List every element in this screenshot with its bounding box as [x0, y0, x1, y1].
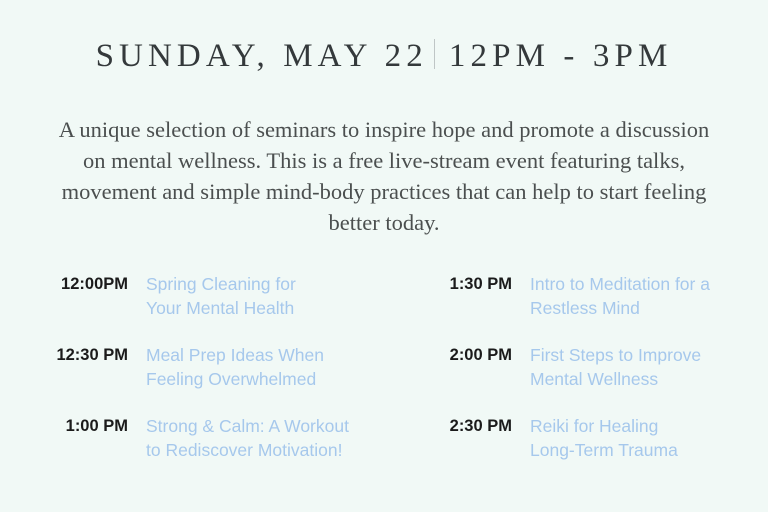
session-title-line1: First Steps to Improve [530, 345, 701, 365]
session-time: 2:30 PM [430, 414, 512, 438]
session-title-line2: Mental Wellness [530, 367, 701, 391]
session-time: 1:00 PM [46, 414, 128, 438]
schedule-row[interactable]: 12:00PM Spring Cleaning for Your Mental … [46, 272, 384, 320]
session-title[interactable]: Reiki for Healing Long-Term Trauma [512, 414, 678, 462]
session-title-line2: Restless Mind [530, 296, 710, 320]
session-title-line2: Feeling Overwhelmed [146, 367, 324, 391]
session-title-line1: Meal Prep Ideas When [146, 345, 324, 365]
session-title[interactable]: Intro to Meditation for a Restless Mind [512, 272, 710, 320]
session-title-line2: Your Mental Health [146, 296, 296, 320]
session-time: 12:00PM [46, 272, 128, 296]
session-title-line1: Strong & Calm: A Workout [146, 416, 349, 436]
session-time: 2:00 PM [430, 343, 512, 367]
event-poster: SUNDAY, MAY 2212PM - 3PM A unique select… [0, 0, 768, 512]
session-title-line2: to Rediscover Motivation! [146, 438, 349, 462]
session-schedule: 12:00PM Spring Cleaning for Your Mental … [0, 272, 768, 462]
session-title-line1: Spring Cleaning for [146, 274, 296, 294]
schedule-row[interactable]: 12:30 PM Meal Prep Ideas When Feeling Ov… [46, 343, 384, 391]
session-title-line1: Reiki for Healing [530, 416, 658, 436]
session-title[interactable]: First Steps to Improve Mental Wellness [512, 343, 701, 391]
schedule-row[interactable]: 1:00 PM Strong & Calm: A Workout to Redi… [46, 414, 384, 462]
schedule-column-left: 12:00PM Spring Cleaning for Your Mental … [0, 272, 384, 462]
session-title-line2: Long-Term Trauma [530, 438, 678, 462]
session-title[interactable]: Spring Cleaning for Your Mental Health [128, 272, 296, 320]
session-time: 1:30 PM [430, 272, 512, 296]
schedule-row[interactable]: 1:30 PM Intro to Meditation for a Restle… [430, 272, 768, 320]
event-time-range: 12PM - 3PM [449, 38, 673, 74]
session-title[interactable]: Strong & Calm: A Workout to Rediscover M… [128, 414, 349, 462]
event-date: SUNDAY, MAY 22 [96, 38, 428, 74]
session-time: 12:30 PM [46, 343, 128, 367]
poster-header: SUNDAY, MAY 2212PM - 3PM [0, 38, 768, 74]
header-divider [434, 39, 435, 69]
schedule-column-right: 1:30 PM Intro to Meditation for a Restle… [384, 272, 768, 462]
schedule-row[interactable]: 2:30 PM Reiki for Healing Long-Term Trau… [430, 414, 768, 462]
session-title-line1: Intro to Meditation for a [530, 274, 710, 294]
schedule-row[interactable]: 2:00 PM First Steps to Improve Mental We… [430, 343, 768, 391]
session-title[interactable]: Meal Prep Ideas When Feeling Overwhelmed [128, 343, 324, 391]
event-description: A unique selection of seminars to inspir… [56, 114, 712, 238]
